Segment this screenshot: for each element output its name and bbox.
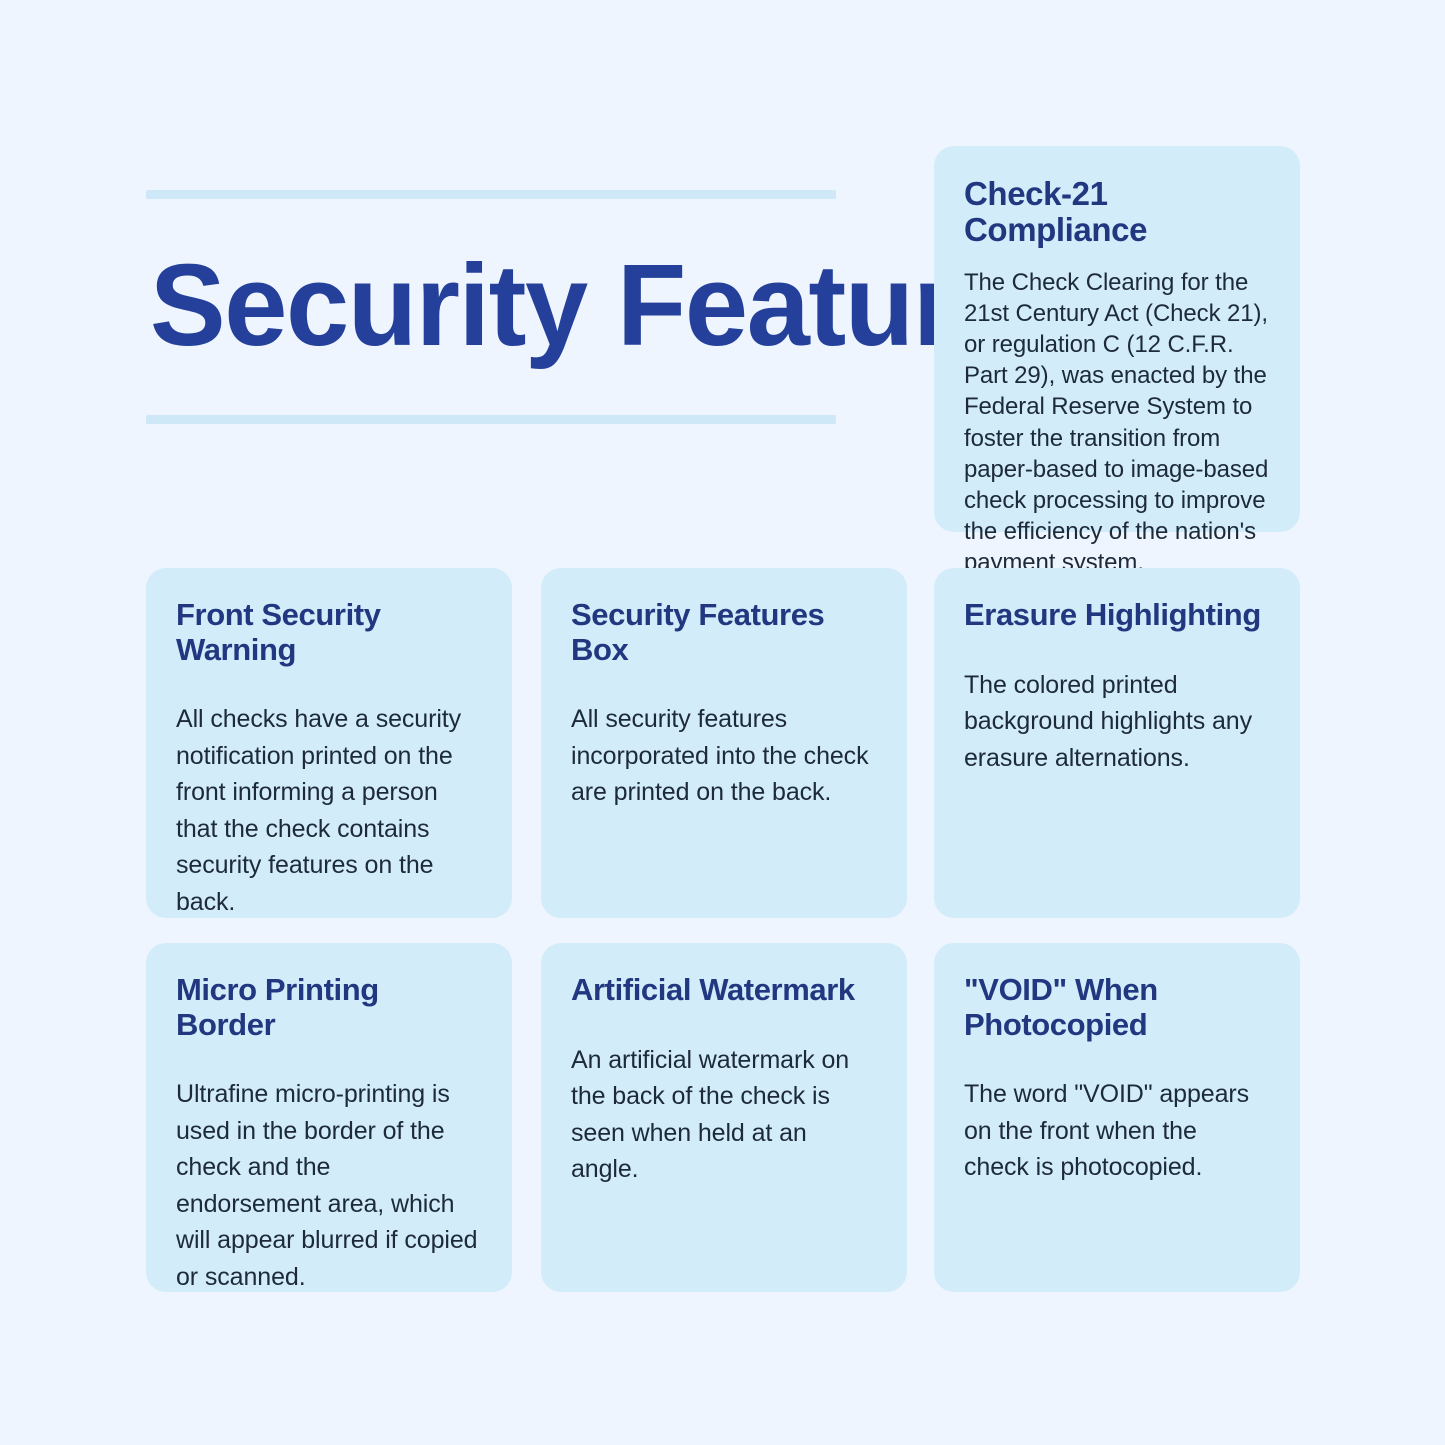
title-divider-top: [146, 190, 836, 199]
card-check-21-compliance: Check-21 Compliance The Check Clearing f…: [934, 146, 1300, 532]
card-title: Security Features Box: [571, 598, 875, 667]
title-divider-bottom: [146, 415, 836, 424]
title-block: Security Features: [146, 190, 836, 424]
card-front-security-warning: Front Security Warning All checks have a…: [146, 568, 512, 918]
card-body: The Check Clearing for the 21st Century …: [964, 249, 1270, 579]
card-body: An artificial watermark on the back of t…: [571, 1008, 875, 1188]
card-erasure-highlighting: Erasure Highlighting The colored printed…: [934, 568, 1300, 918]
card-body: The colored printed background highlight…: [964, 633, 1268, 777]
card-title: Check-21 Compliance: [964, 176, 1270, 249]
card-artificial-watermark: Artificial Watermark An artificial water…: [541, 943, 907, 1292]
card-title: Artificial Watermark: [571, 973, 875, 1008]
card-body: Ultrafine micro-printing is used in the …: [176, 1042, 480, 1295]
card-body: All checks have a security notification …: [176, 667, 480, 920]
card-body: All security features incorporated into …: [571, 667, 875, 811]
security-features-infographic: Security Features Check-21 Compliance Th…: [0, 0, 1445, 1445]
card-security-features-box: Security Features Box All security featu…: [541, 568, 907, 918]
card-title: Micro Printing Border: [176, 973, 480, 1042]
card-title: Front Security Warning: [176, 598, 480, 667]
page-title: Security Features: [146, 199, 822, 415]
card-title: Erasure Highlighting: [964, 598, 1268, 633]
card-body: The word "VOID" appears on the front whe…: [964, 1042, 1268, 1186]
card-title: "VOID" When Photocopied: [964, 973, 1268, 1042]
card-void-when-photocopied: "VOID" When Photocopied The word "VOID" …: [934, 943, 1300, 1292]
card-micro-printing-border: Micro Printing Border Ultrafine micro-pr…: [146, 943, 512, 1292]
